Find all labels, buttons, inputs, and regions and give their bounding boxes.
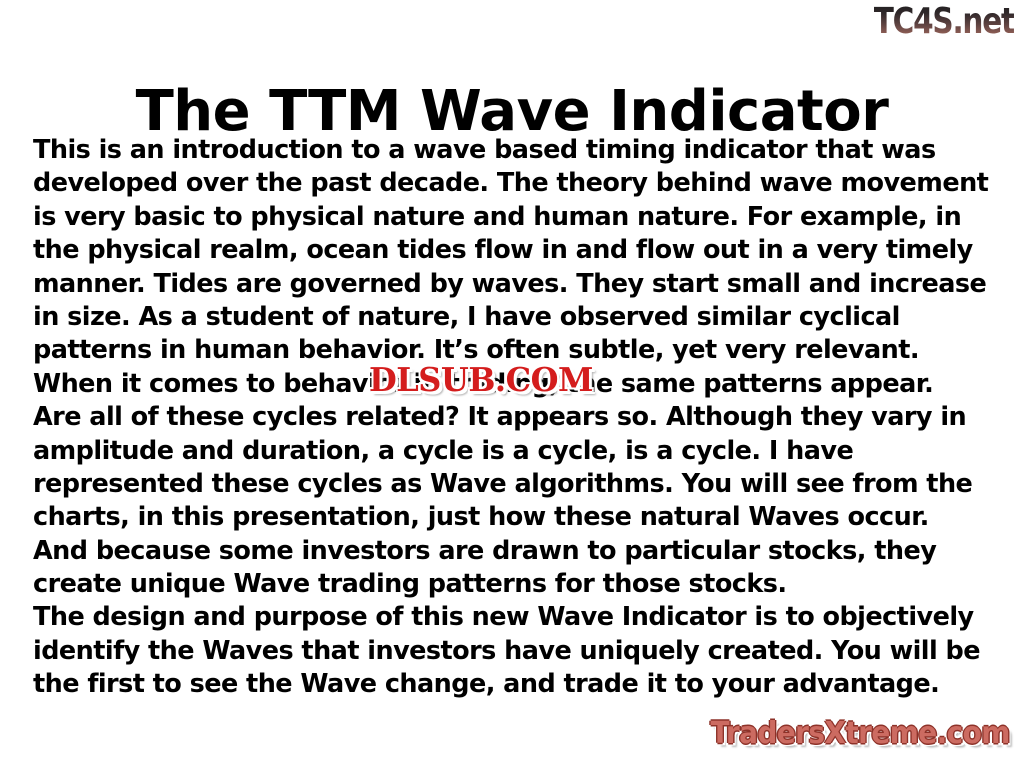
body-line: create unique Wave trading patterns for … xyxy=(33,568,1003,601)
dlsub-com-watermark: DLSUB.COM xyxy=(369,361,593,399)
body-line: This is an introduction to a wave based … xyxy=(33,134,1003,167)
body-line: identify the Waves that investors have u… xyxy=(33,635,1003,668)
body-line: the physical realm, ocean tides flow in … xyxy=(33,234,1003,267)
tc4s-net-watermark: TC4S.net xyxy=(874,2,1014,42)
body-line: The design and purpose of this new Wave … xyxy=(33,601,1003,634)
body-line: developed over the past decade. The theo… xyxy=(33,167,1003,200)
presentation-slide: TC4S.net The TTM Wave Indicator This is … xyxy=(0,0,1024,768)
tradersxtreme-com-watermark: TradersXtreme.com xyxy=(711,716,1010,752)
body-line: represented these cycles as Wave algorit… xyxy=(33,468,1003,501)
body-line: charts, in this presentation, just how t… xyxy=(33,501,1003,534)
body-line: Are all of these cycles related? It appe… xyxy=(33,401,1003,434)
body-line: And because some investors are drawn to … xyxy=(33,535,1003,568)
slide-body-text: This is an introduction to a wave based … xyxy=(33,134,1003,702)
body-line: the first to see the Wave change, and tr… xyxy=(33,668,1003,701)
body-line: amplitude and duration, a cycle is a cyc… xyxy=(33,435,1003,468)
body-line: manner. Tides are governed by waves. The… xyxy=(33,268,1003,301)
body-line: in size. As a student of nature, I have … xyxy=(33,301,1003,334)
body-line: is very basic to physical nature and hum… xyxy=(33,201,1003,234)
